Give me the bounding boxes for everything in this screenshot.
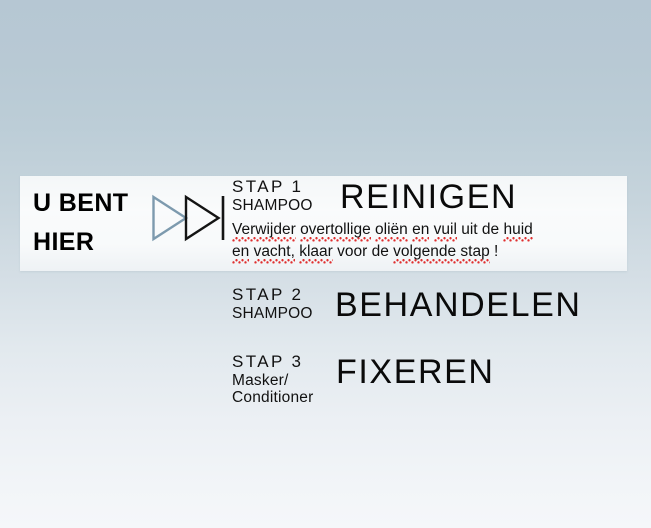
step-1-description-line-1: Verwijder overtollige oliën en vuil uit … <box>232 219 533 241</box>
step-3-subtitle-line-1: Masker/ <box>232 372 313 389</box>
you-are-here-line-2: HIER <box>33 223 163 262</box>
step-3-block[interactable]: STAP 3 Masker/ Conditioner FIXEREN <box>232 352 313 406</box>
step-3-label: STAP 3 <box>232 352 313 372</box>
step-1-description-line-2: en vacht, klaar voor de volgende stap ! <box>232 241 533 263</box>
step-2-label: STAP 2 <box>232 285 313 305</box>
spellcheck-word: Verwijder <box>232 221 296 242</box>
plain-word: uit de <box>461 221 499 238</box>
step-1-label: STAP 1 <box>232 177 313 197</box>
step-1-block[interactable]: STAP 1 SHAMPOO REINIGEN <box>232 177 313 214</box>
spellcheck-word: vuil <box>434 221 457 242</box>
you-are-here-label: U BENT HIER <box>33 184 163 262</box>
spellcheck-word: en <box>412 221 429 242</box>
double-triangle-skip-forward-icon <box>150 194 226 242</box>
step-1-title: REINIGEN <box>340 180 517 214</box>
you-are-here-line-1: U BENT <box>33 184 163 223</box>
step-2-subtitle: SHAMPOO <box>232 305 313 322</box>
step-3-title: FIXEREN <box>336 355 495 389</box>
spellcheck-word: oliën <box>375 221 408 242</box>
step-1-subtitle: SHAMPOO <box>232 197 313 214</box>
spellcheck-word: vacht, <box>254 243 295 264</box>
spellcheck-word: overtollige <box>300 221 371 242</box>
step-3-subtitle-line-2: Conditioner <box>232 389 313 406</box>
step-1-description: Verwijder overtollige oliën en vuil uit … <box>232 219 533 263</box>
spellcheck-word: en <box>232 243 249 264</box>
step-2-block[interactable]: STAP 2 SHAMPOO BEHANDELEN <box>232 285 313 322</box>
infographic-stage: U BENT HIER STAP 1 SHAMPOO REINIGEN Verw… <box>0 0 651 528</box>
plain-word: ! <box>494 243 498 260</box>
spellcheck-word: huid <box>503 221 532 242</box>
plain-word: voor de <box>337 243 389 260</box>
step-2-title: BEHANDELEN <box>335 288 582 322</box>
spellcheck-word: klaar <box>299 243 333 264</box>
spellcheck-word: volgende stap <box>393 243 490 264</box>
